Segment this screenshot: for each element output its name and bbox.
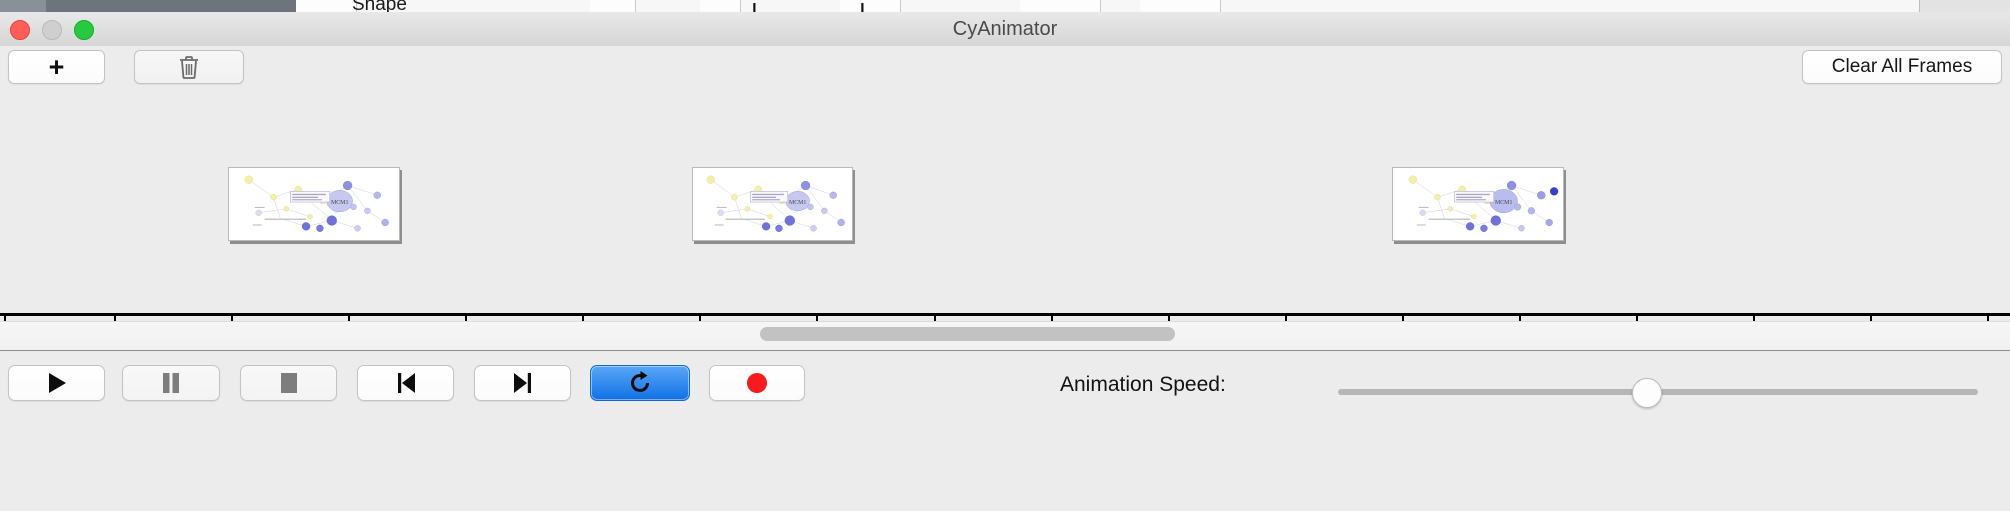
timeline-axis bbox=[0, 313, 2010, 316]
timeline-scrollbar-thumb[interactable] bbox=[760, 327, 1175, 341]
timeline-frame-3[interactable]: MCM1 bbox=[1392, 167, 1564, 241]
background-window-strip: Shape | | bbox=[0, 0, 2010, 12]
plus-icon: + bbox=[49, 54, 65, 81]
toolbar: + Clear All Frames bbox=[0, 46, 2010, 90]
background-cell bbox=[296, 0, 357, 12]
title-bar: CyAnimator bbox=[0, 12, 2010, 47]
animation-speed-slider-thumb[interactable] bbox=[1632, 378, 1662, 408]
stop-button[interactable] bbox=[240, 365, 337, 401]
pause-button[interactable] bbox=[122, 365, 220, 401]
play-button[interactable] bbox=[8, 365, 105, 401]
timeline-scrollbar[interactable] bbox=[0, 321, 2010, 351]
timeline-panel[interactable]: MCM1 bbox=[0, 89, 2010, 321]
svg-text:MCM1: MCM1 bbox=[789, 200, 806, 206]
cyanimator-window: Shape | | CyAnimator + bbox=[0, 0, 2010, 510]
animation-speed-label: Animation Speed: bbox=[1060, 373, 1226, 397]
window-title: CyAnimator bbox=[0, 12, 2010, 46]
add-frame-button[interactable]: + bbox=[8, 50, 105, 84]
skip-back-button[interactable] bbox=[357, 365, 454, 401]
record-button[interactable] bbox=[709, 365, 805, 401]
background-cell bbox=[590, 0, 636, 12]
pause-icon bbox=[161, 371, 181, 395]
background-cell bbox=[1020, 0, 1101, 12]
timeline-frame-1[interactable]: MCM1 bbox=[228, 167, 400, 241]
svg-text:MCM1: MCM1 bbox=[1495, 200, 1513, 206]
background-cell bbox=[1140, 0, 1221, 12]
timeline-frame-2[interactable]: MCM1 bbox=[692, 167, 853, 241]
skip-forward-button[interactable] bbox=[474, 365, 571, 401]
loop-icon bbox=[627, 370, 653, 396]
background-sidebar bbox=[0, 0, 46, 12]
stop-icon bbox=[279, 372, 299, 394]
network-thumbnail-3: MCM1 bbox=[1393, 168, 1563, 240]
play-icon bbox=[46, 371, 68, 395]
record-icon bbox=[746, 372, 768, 394]
clear-all-frames-button[interactable]: Clear All Frames bbox=[1802, 50, 2002, 84]
clear-all-frames-label: Clear All Frames bbox=[1832, 56, 1972, 78]
network-thumbnail-1: MCM1 bbox=[229, 168, 399, 240]
trash-icon bbox=[178, 55, 200, 80]
skip-back-icon bbox=[395, 371, 417, 395]
skip-forward-icon bbox=[512, 371, 534, 395]
network-thumbnail-2: MCM1 bbox=[693, 168, 852, 240]
playback-control-bar: Animation Speed: bbox=[0, 350, 2010, 511]
svg-text:MCM1: MCM1 bbox=[331, 200, 349, 206]
delete-frame-button[interactable] bbox=[134, 50, 244, 84]
background-cell bbox=[840, 0, 901, 12]
background-right-panel bbox=[1919, 0, 2010, 12]
background-cell bbox=[700, 0, 741, 12]
loop-button[interactable] bbox=[590, 365, 690, 401]
background-sidebar-secondary bbox=[46, 0, 296, 12]
